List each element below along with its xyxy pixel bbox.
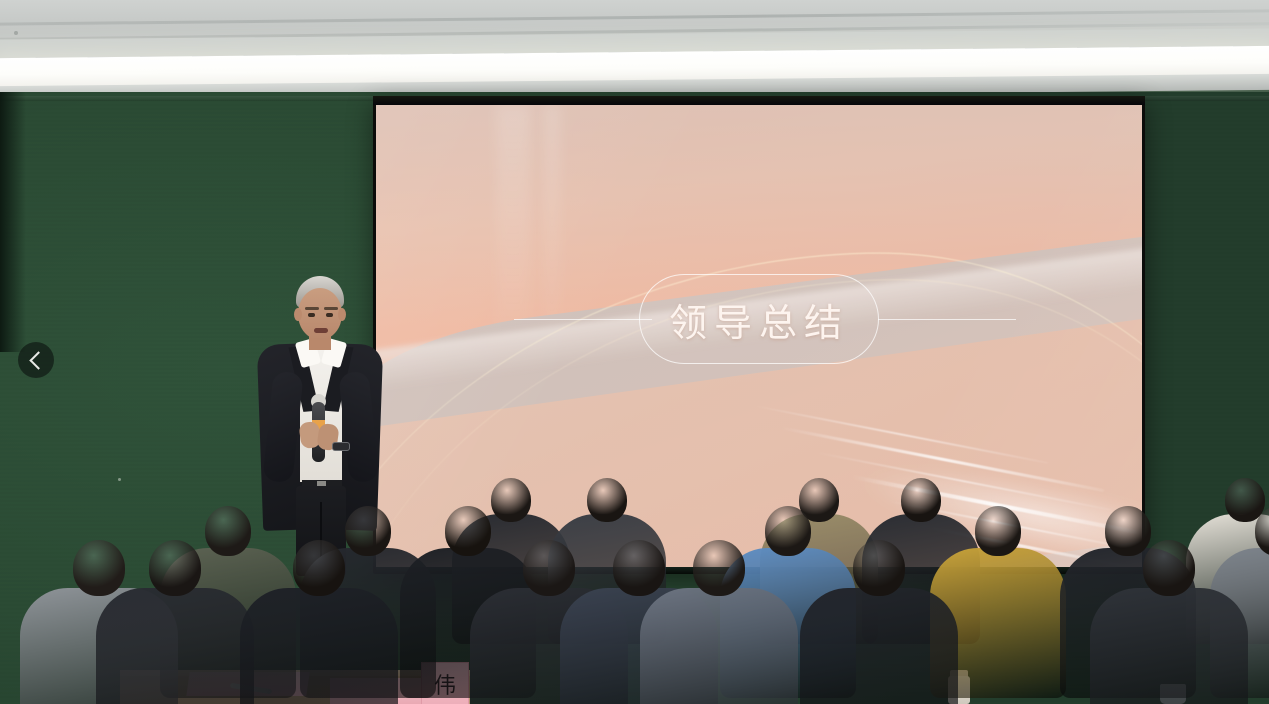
- wall-shadow-left: [0, 92, 26, 352]
- audience-member: [640, 540, 798, 704]
- speaker-eye-right: [326, 313, 333, 317]
- photo-viewer: 领导总结: [0, 0, 1269, 704]
- audience-member: [1090, 540, 1248, 704]
- speaker-ear-left: [294, 308, 302, 321]
- chevron-left-icon: [29, 351, 47, 369]
- speaker-mouth: [314, 328, 328, 333]
- audience-member: [240, 540, 398, 704]
- audience-member-head: [587, 478, 627, 522]
- slide-title-block: 领导总结: [376, 273, 1142, 365]
- ceiling-screw: [14, 31, 18, 35]
- slide-title-pill: 领导总结: [639, 274, 879, 364]
- speaker-eyebrow-right: [324, 307, 338, 310]
- audience-member-head: [975, 506, 1021, 556]
- speaker-eye-left: [308, 313, 315, 317]
- audience-member-head: [1143, 540, 1195, 596]
- audience-member-head: [853, 540, 905, 596]
- slide-title: 领导总结: [669, 292, 849, 347]
- audience-member: [800, 540, 958, 704]
- audience-member-head: [149, 540, 201, 596]
- previous-image-button[interactable]: [18, 342, 54, 378]
- slide-rule-left: [514, 319, 652, 320]
- screen-top-bar: [373, 96, 1145, 105]
- audience-member-head: [693, 540, 745, 596]
- audience-member-torso: [800, 588, 958, 704]
- audience-member: [96, 540, 254, 704]
- audience-member-torso: [640, 588, 798, 704]
- speaker-eyebrow-left: [305, 307, 319, 310]
- audience-member-torso: [96, 588, 254, 704]
- speaker-ear-right: [338, 308, 346, 321]
- audience-member-torso: [240, 588, 398, 704]
- wall-marker-dot: [118, 478, 121, 481]
- slide-rule-right: [878, 319, 1016, 320]
- audience-member-head: [293, 540, 345, 596]
- audience-group: [0, 420, 1269, 704]
- audience-member-torso: [1090, 588, 1248, 704]
